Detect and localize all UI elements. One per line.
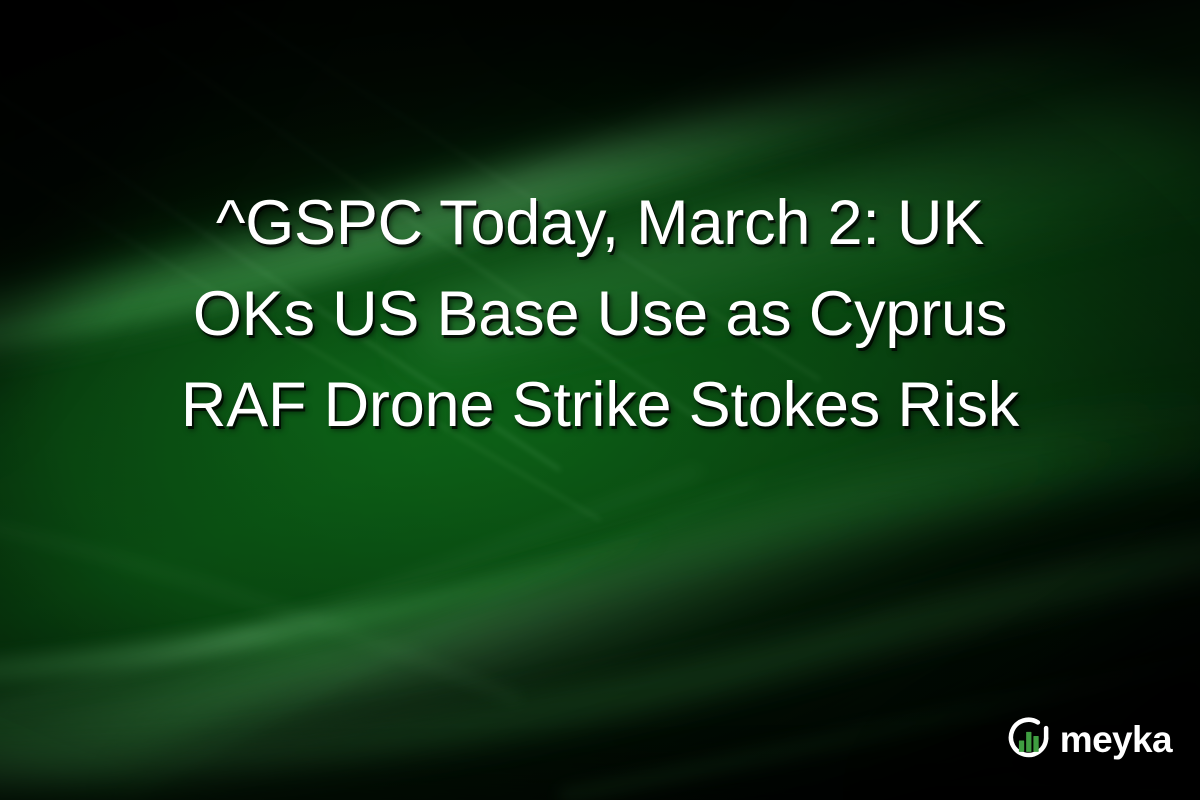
circular-bar-chart-logo-icon [1005,715,1052,762]
brand-name-label: meyka [1060,721,1172,758]
news-share-card: ^GSPC Today, March 2: UK OKs US Base Use… [0,0,1200,800]
headline-text: ^GSPC Today, March 2: UK OKs US Base Use… [181,178,1019,451]
headline-block: ^GSPC Today, March 2: UK OKs US Base Use… [0,178,1200,451]
brand-lockup[interactable]: meyka [1005,715,1172,762]
